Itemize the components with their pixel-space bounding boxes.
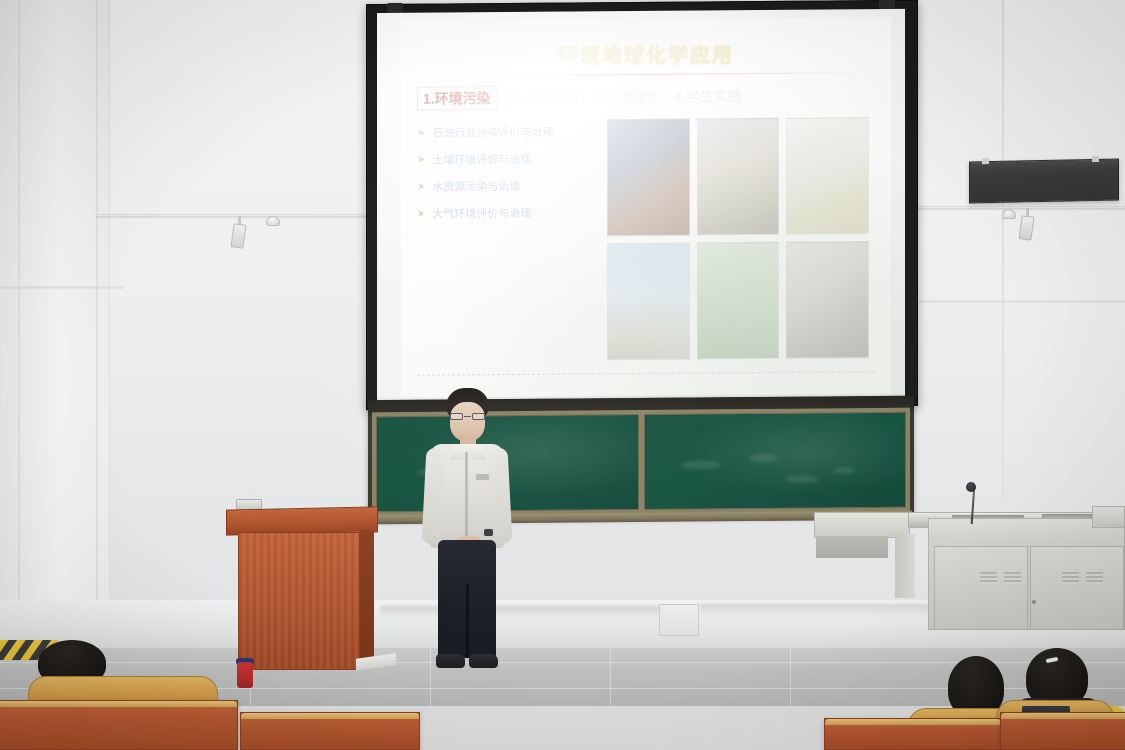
slide-nav-item-2[interactable]: 2.环境活动 xyxy=(511,87,579,108)
photo-waste-site xyxy=(786,241,869,359)
blackboard-panel-right xyxy=(644,412,907,510)
list-item: ➤ 大气环境评价与治理 xyxy=(417,204,595,221)
dome-sensor-icon xyxy=(1002,209,1016,219)
panel-clip xyxy=(1092,156,1099,162)
console-far-shelf xyxy=(1092,506,1125,528)
dome-sensor-icon xyxy=(266,216,280,226)
slide-body: ➤ 石油行业污染评价与治理 ➤ 土壤环境评价与治理 ➤ 水资源污染与治理 ➤ xyxy=(417,113,875,368)
red-thermos xyxy=(237,662,253,688)
title-divider xyxy=(423,72,869,77)
console-shelf-underside xyxy=(816,536,888,558)
glasses-icon xyxy=(449,413,486,420)
trouser-seam xyxy=(466,584,469,658)
podium-side xyxy=(360,530,374,663)
glasses-lens-left xyxy=(450,413,463,420)
photo-sky-air-quality xyxy=(607,243,690,361)
wall-seam xyxy=(96,0,98,640)
screen-surface: 环境地球化学应用 1.环境污染 2.环境活动 3.环境变化 4.学生实践 ➤ 石… xyxy=(377,9,905,400)
slide-footer-divider xyxy=(417,371,875,376)
glasses-bridge xyxy=(464,416,471,417)
cabinet-door-right[interactable] xyxy=(1030,546,1124,630)
slide-photo-grid xyxy=(605,113,875,366)
microphone-head-icon xyxy=(966,482,976,492)
photo-oil-spill xyxy=(607,119,690,237)
desk-edge xyxy=(1001,713,1125,719)
wall-rail-mid xyxy=(0,286,124,288)
tile-seam xyxy=(0,662,1125,663)
desk-edge xyxy=(825,719,1001,725)
cabinet-vent xyxy=(1086,572,1103,584)
table-row xyxy=(824,718,1002,750)
arrow-bullet-icon: ➤ xyxy=(417,208,425,219)
lecture-hall-scene: 环境地球化学应用 1.环境污染 2.环境活动 3.环境变化 4.学生实践 ➤ 石… xyxy=(0,0,1125,750)
photo-soil-cross-section xyxy=(786,117,869,235)
wristwatch xyxy=(484,529,493,536)
projection-screen: 环境地球化学应用 1.环境污染 2.环境活动 3.环境变化 4.学生实践 ➤ 石… xyxy=(366,0,918,410)
slide-nav-item-4[interactable]: 4.学生实践 xyxy=(674,86,742,107)
presenter-shoe-right xyxy=(469,654,498,668)
chair-back xyxy=(28,676,218,702)
desk-edge xyxy=(0,701,237,707)
bullet-label: 大气环境评价与治理 xyxy=(432,205,531,222)
slide-section-nav: 1.环境污染 2.环境活动 3.环境变化 4.学生实践 xyxy=(417,83,875,111)
stage-scuff xyxy=(700,604,960,616)
left-wall-return xyxy=(0,0,110,640)
list-item: ➤ 土壤环境评价与治理 xyxy=(417,150,595,167)
tile-seam xyxy=(610,648,611,706)
presenter-face xyxy=(450,402,485,442)
tile-seam xyxy=(790,648,791,706)
wall-display-panel xyxy=(969,159,1119,204)
photo-contaminated-land xyxy=(697,118,780,236)
cabinet-door-left[interactable] xyxy=(934,546,1028,630)
presenter-shoe-left xyxy=(436,654,465,668)
cabinet-vent xyxy=(980,572,997,584)
photo-green-field xyxy=(697,242,780,360)
list-item: ➤ 石油行业污染评价与治理 xyxy=(417,123,595,140)
wooden-podium xyxy=(226,508,378,670)
table-row xyxy=(1000,712,1125,750)
wall-rail-upper-right xyxy=(918,206,1125,209)
arrow-bullet-icon: ➤ xyxy=(417,154,425,165)
wall-rail-mid-right xyxy=(918,300,1125,302)
bullet-label: 土壤环境评价与治理 xyxy=(432,151,531,168)
table-row xyxy=(240,712,420,750)
wall-seam xyxy=(1002,0,1004,500)
slide-bullet-list: ➤ 石油行业污染评价与治理 ➤ 土壤环境评价与治理 ➤ 水资源污染与治理 ➤ xyxy=(417,115,595,367)
cabinet-vent xyxy=(1004,572,1021,584)
cabinet-vent xyxy=(1062,572,1079,584)
wall-seam xyxy=(18,0,20,640)
cabinet-knob[interactable] xyxy=(1032,600,1036,604)
slide-nav-item-1[interactable]: 1.环境污染 xyxy=(417,86,497,111)
bullet-label: 水资源污染与治理 xyxy=(432,178,520,195)
table-row xyxy=(0,700,238,750)
wall-access-hatch xyxy=(659,604,699,636)
slide-nav-item-3[interactable]: 3.环境变化 xyxy=(592,87,660,108)
arrow-bullet-icon: ➤ xyxy=(417,181,425,192)
presenter xyxy=(418,388,516,678)
panel-clip xyxy=(982,158,989,164)
bullet-label: 石油行业污染评价与治理 xyxy=(432,124,553,141)
desk-edge xyxy=(241,713,419,719)
slide-title: 环境地球化学应用 xyxy=(401,37,891,70)
list-item: ➤ 水资源污染与治理 xyxy=(417,177,595,194)
console-shelf-leg xyxy=(895,534,915,598)
podium-body xyxy=(238,532,360,670)
arrow-bullet-icon: ➤ xyxy=(417,127,425,138)
shirt-placket xyxy=(465,452,468,546)
glasses-lens-right xyxy=(472,413,485,420)
slide: 环境地球化学应用 1.环境污染 2.环境活动 3.环境变化 4.学生实践 ➤ 石… xyxy=(401,17,891,398)
